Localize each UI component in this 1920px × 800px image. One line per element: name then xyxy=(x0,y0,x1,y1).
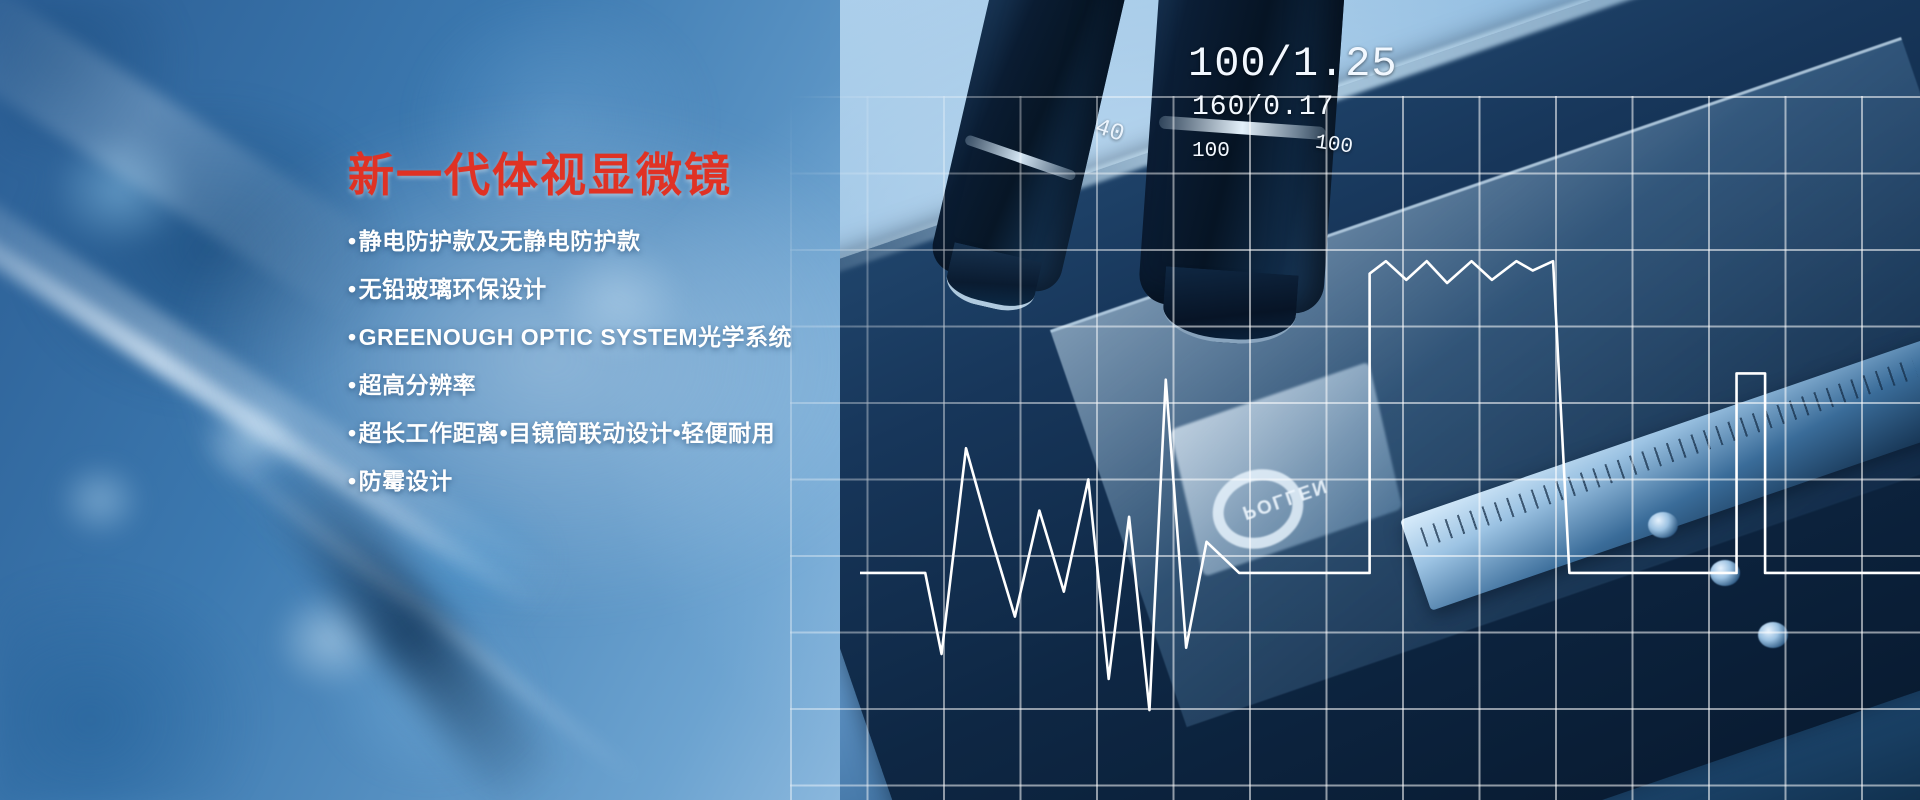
list-item: •无铅玻璃环保设计 xyxy=(348,277,908,301)
list-item: •静电防护款及无静电防护款 xyxy=(348,229,908,253)
stage-screw xyxy=(1648,512,1678,538)
hero-banner: POLLEN 100/1.25 160/0.17 100 100 40 新一代体… xyxy=(0,0,1920,800)
list-item-label: 超高分辨率 xyxy=(359,372,477,398)
objective-band xyxy=(964,134,1077,181)
bullet-dot-icon: • xyxy=(348,372,357,398)
lens-marking-magnification-na: 100/1.25 xyxy=(1188,40,1398,88)
bullet-dot-icon: • xyxy=(348,468,357,494)
list-item-label: 防霉设计 xyxy=(359,468,453,494)
list-item: •防霉设计 xyxy=(348,469,908,493)
list-item-label: 无铅玻璃环保设计 xyxy=(359,276,547,302)
list-item: •超高分辨率 xyxy=(348,373,908,397)
page-title: 新一代体视显微镜 xyxy=(348,150,908,201)
stage-screw xyxy=(1710,560,1740,586)
bullet-dot-icon: • xyxy=(348,228,357,254)
list-item-label: 静电防护款及无静电防护款 xyxy=(359,228,641,254)
microscope-photo: POLLEN 100/1.25 160/0.17 100 100 40 xyxy=(840,0,1920,800)
feature-list: •静电防护款及无静电防护款 •无铅玻璃环保设计 •GREENOUGH OPTIC… xyxy=(348,229,908,494)
bullet-dot-icon: • xyxy=(348,324,357,350)
list-item: •GREENOUGH OPTIC SYSTEM光学系统 xyxy=(348,325,908,349)
lens-marking-tube-cover: 160/0.17 xyxy=(1192,92,1334,123)
stage-screw xyxy=(1758,622,1788,648)
bullet-dot-icon: • xyxy=(348,420,357,446)
list-item: •超长工作距离•目镜筒联动设计•轻便耐用 xyxy=(348,421,908,445)
lens-marking-mag-left: 100 xyxy=(1192,140,1230,163)
banner-copy: 新一代体视显微镜 •静电防护款及无静电防护款 •无铅玻璃环保设计 •GREENO… xyxy=(348,150,908,517)
list-item-label: GREENOUGH OPTIC SYSTEM光学系统 xyxy=(359,324,792,350)
list-item-label: 超长工作距离•目镜筒联动设计•轻便耐用 xyxy=(359,420,776,446)
bullet-dot-icon: • xyxy=(348,276,357,302)
